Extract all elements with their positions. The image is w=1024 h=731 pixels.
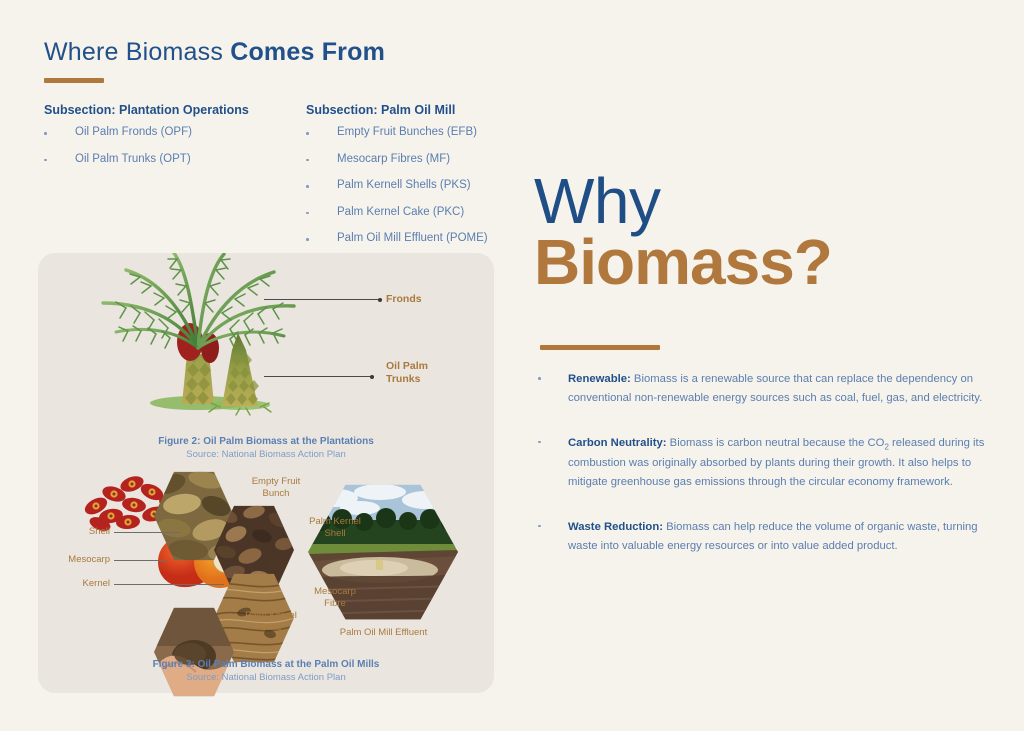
label-mf-line2: Fibre: [324, 598, 346, 609]
bullet-dot-icon: [44, 159, 47, 162]
bullet-dot-icon: [538, 441, 541, 444]
leader-line-shell: [114, 532, 180, 533]
why-title-line2: Biomass?: [534, 233, 832, 292]
palm-tree-graphic: [38, 253, 494, 433]
label-kernel: Kernel: [46, 578, 110, 589]
list-item-label: Oil Palm Fronds (OPF): [75, 126, 192, 138]
label-palm-kernel-cake: Palm Kernel Cake: [234, 610, 308, 635]
page-title-regular: Where Biomass: [44, 38, 230, 66]
bullet-dot-icon: [306, 212, 309, 215]
benefit-text-before: Biomass is carbon neutral because the CO: [667, 437, 885, 449]
bullet-dot-icon: [306, 185, 309, 188]
figure-2-caption-title: Figure 2: Oil Palm Biomass at the Planta…: [38, 435, 494, 449]
list-item: Palm Oil Mill Effluent (POME): [306, 232, 488, 244]
bullet-dot-icon: [538, 377, 541, 380]
label-pkc-line1: Palm Kernel: [245, 610, 297, 621]
leader-line-trunks: [264, 376, 374, 377]
label-pks-line1: Palm Kernel: [309, 516, 361, 527]
label-oil-palm-trunks: Oil Palm Trunks: [386, 360, 428, 386]
list-item-label: Palm Kernell Shells (PKS): [337, 179, 471, 191]
label-mesocarp: Mesocarp: [38, 554, 110, 565]
label-palm-oil-mill-effluent: Palm Oil Mill Effluent: [316, 627, 451, 639]
header-accent-bar: [44, 78, 104, 83]
figure-3-caption-title: Figure 3: Oil Palm Biomass at the Palm O…: [38, 658, 494, 672]
bullet-dot-icon: [538, 525, 541, 528]
why-biomass-title: Why Biomass?: [534, 172, 832, 292]
figure-3-illustration: Empty Fruit Bunch Palm Kernel Shell Meso…: [38, 468, 494, 658]
label-efb-line2: Bunch: [263, 488, 290, 499]
list-item-label: Mesocarp Fibres (MF): [337, 153, 450, 165]
figure-2-caption: Figure 2: Oil Palm Biomass at the Planta…: [38, 435, 494, 461]
label-kernel-text: Kernel: [83, 578, 110, 589]
label-shell: Shell: [46, 526, 110, 537]
list-item: Empty Fruit Bunches (EFB): [306, 126, 488, 138]
benefit-text: Biomass is a renewable source that can r…: [568, 373, 982, 404]
bullet-dot-icon: [306, 238, 309, 241]
bullet-dot-icon: [306, 159, 309, 162]
leader-line-mesocarp: [114, 560, 166, 561]
list-item-label: Palm Kernel Cake (PKC): [337, 206, 464, 218]
figure-3-caption: Figure 3: Oil Palm Biomass at the Palm O…: [38, 658, 494, 684]
list-item-label: Palm Oil Mill Effluent (POME): [337, 232, 488, 244]
label-shell-text: Shell: [89, 526, 110, 537]
list-item: Oil Palm Fronds (OPF): [44, 126, 249, 138]
label-palm-kernel-shell: Palm Kernel Shell: [298, 516, 372, 541]
subsection-plantation-operations: Subsection: Plantation Operations Oil Pa…: [44, 103, 249, 179]
leader-dot-icon: [378, 298, 382, 302]
page-title: Where Biomass Comes From: [44, 38, 385, 67]
bullet-dot-icon: [306, 132, 309, 135]
figures-panel: Fronds Oil Palm Trunks Figure 2: Oil Pal…: [38, 253, 494, 693]
subsection-list: Oil Palm Fronds (OPF) Oil Palm Trunks (O…: [44, 126, 249, 165]
benefit-carbon-neutrality: Carbon Neutrality: Biomass is carbon neu…: [538, 434, 990, 493]
label-trunks-line2: Trunks: [386, 373, 420, 385]
benefit-term: Waste Reduction:: [568, 521, 663, 533]
label-efb-line1: Empty Fruit: [252, 476, 301, 487]
list-item: Mesocarp Fibres (MF): [306, 153, 488, 165]
label-trunks-line1: Oil Palm: [386, 360, 428, 372]
label-mesocarp-fibre: Mesocarp Fibre: [298, 586, 372, 611]
label-mesocarp-text: Mesocarp: [68, 554, 110, 565]
why-title-line1: Why: [534, 172, 832, 231]
benefits-list: Renewable: Biomass is a renewable source…: [538, 370, 990, 582]
subsection-heading: Subsection: Palm Oil Mill: [306, 103, 488, 117]
list-item: Oil Palm Trunks (OPT): [44, 153, 249, 165]
label-mf-line1: Mesocarp: [314, 586, 356, 597]
label-fronds-text: Fronds: [386, 293, 422, 305]
subsection-palm-oil-mill: Subsection: Palm Oil Mill Empty Fruit Bu…: [306, 103, 488, 259]
subsection-list: Empty Fruit Bunches (EFB) Mesocarp Fibre…: [306, 126, 488, 244]
page-title-bold: Comes From: [230, 38, 385, 66]
benefit-term: Carbon Neutrality:: [568, 437, 667, 449]
bullet-dot-icon: [44, 132, 47, 135]
why-accent-bar: [540, 345, 660, 350]
label-fronds: Fronds: [386, 293, 422, 306]
benefit-renewable: Renewable: Biomass is a renewable source…: [538, 370, 990, 409]
figure-2-illustration: Fronds Oil Palm Trunks: [38, 253, 494, 433]
label-empty-fruit-bunch: Empty Fruit Bunch: [241, 476, 311, 501]
benefit-waste-reduction: Waste Reduction: Biomass can help reduce…: [538, 518, 990, 557]
list-item: Palm Kernell Shells (PKS): [306, 179, 488, 191]
list-item: Palm Kernel Cake (PKC): [306, 206, 488, 218]
leader-dot-icon: [370, 375, 374, 379]
leader-line-fronds: [264, 299, 382, 300]
figure-3-caption-source: Source: National Biomass Action Plan: [38, 672, 494, 685]
leader-line-kernel: [114, 584, 224, 585]
label-pome-text: Palm Oil Mill Effluent: [340, 627, 427, 638]
benefit-term: Renewable:: [568, 373, 631, 385]
label-pks-line2: Shell: [324, 528, 345, 539]
list-item-label: Oil Palm Trunks (OPT): [75, 153, 191, 165]
figure-2-caption-source: Source: National Biomass Action Plan: [38, 449, 494, 462]
subsection-heading: Subsection: Plantation Operations: [44, 103, 249, 117]
label-pkc-line2: Cake: [260, 622, 282, 633]
list-item-label: Empty Fruit Bunches (EFB): [337, 126, 477, 138]
